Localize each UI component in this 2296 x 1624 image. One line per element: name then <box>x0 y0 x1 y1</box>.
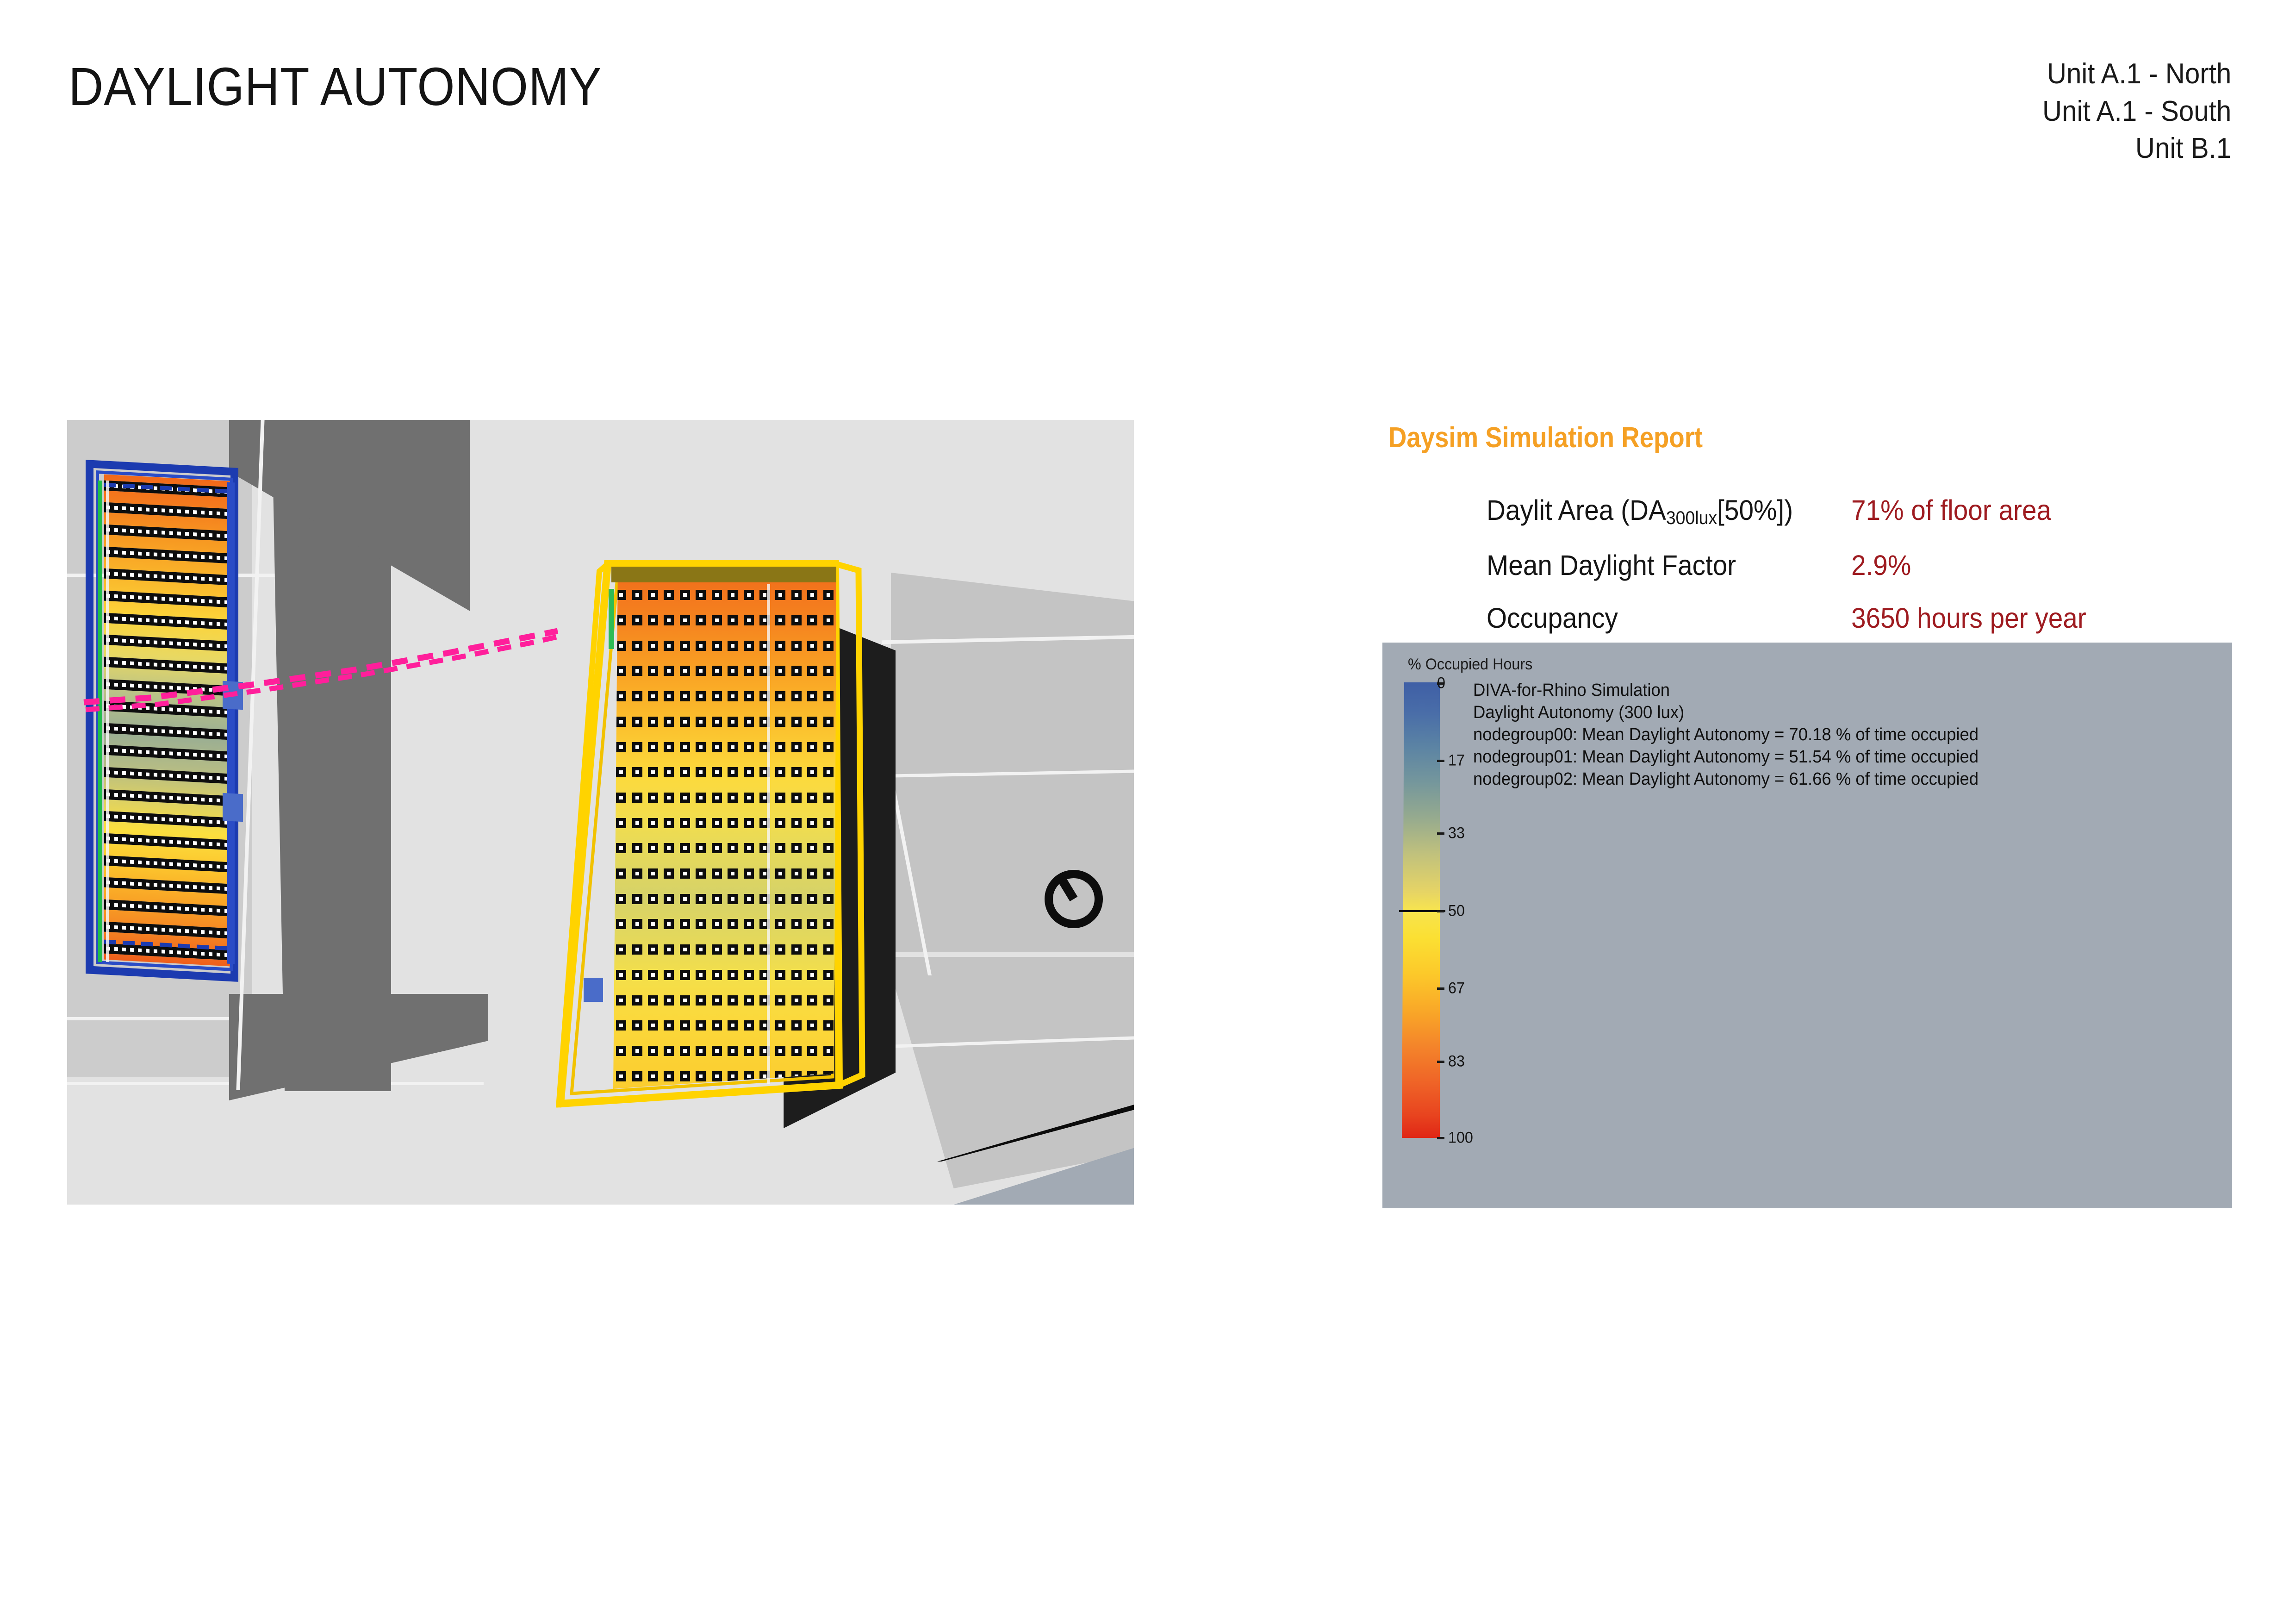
sensor-node-icon <box>744 717 754 727</box>
sensor-node-cell <box>645 861 661 887</box>
sensor-node-icon <box>632 894 642 904</box>
sensor-node-icon <box>712 1020 722 1031</box>
sensor-node-cell <box>709 1038 725 1064</box>
sensor-node-icon <box>823 641 834 651</box>
sensor-node-cell <box>693 962 709 988</box>
sensor-node-cell <box>740 633 756 658</box>
sensor-node-cell <box>804 1038 820 1064</box>
sensor-node-icon <box>648 666 658 676</box>
sensor-node-icon <box>823 995 834 1006</box>
sensor-node-cell <box>613 1013 629 1038</box>
sensor-node-cell <box>789 658 804 684</box>
sensor-node-icon <box>696 818 706 828</box>
sensor-node-cell <box>804 810 820 836</box>
sensor-node-icon <box>807 944 817 955</box>
daylit-area-label-sub: 300lux <box>1666 507 1717 528</box>
sensor-node-icon <box>807 843 817 853</box>
sensor-node-icon <box>712 742 722 752</box>
sensor-node-icon <box>744 843 754 853</box>
sensor-node-icon <box>680 843 690 853</box>
sensor-node-icon <box>744 691 754 701</box>
sensor-node-icon <box>775 843 785 853</box>
sensor-node-icon <box>823 666 834 676</box>
sensor-node-cell <box>629 785 645 811</box>
sensor-node-icon <box>696 868 706 879</box>
unit-right-group[interactable] <box>553 556 923 1135</box>
sensor-node-cell <box>677 912 693 937</box>
sensor-node-icon <box>680 717 690 727</box>
unit-right-grid-cells <box>613 582 836 1089</box>
sensor-node-cell <box>645 836 661 861</box>
sensor-node-cell <box>629 1063 645 1089</box>
sensor-node-icon <box>664 868 674 879</box>
sensor-node-icon <box>648 868 658 879</box>
unit-left-grid-cells <box>104 475 230 967</box>
sensor-node-cell <box>821 684 836 709</box>
colorbar-label-83: 83 <box>1448 1053 1465 1071</box>
sensor-node-icon <box>712 590 722 600</box>
sensor-node-icon <box>791 1046 802 1056</box>
sensor-node-icon <box>664 1071 674 1081</box>
sensor-node-cell <box>629 987 645 1013</box>
sensor-node-cell <box>645 658 661 684</box>
sensor-node-cell <box>740 1013 756 1038</box>
sensor-node-icon <box>807 767 817 777</box>
sensor-node-icon <box>823 767 834 777</box>
sensor-node-icon <box>616 793 626 803</box>
sensor-node-icon <box>775 590 785 600</box>
sensor-node-icon <box>664 843 674 853</box>
sensor-node-icon <box>823 793 834 803</box>
sensor-node-cell <box>677 1013 693 1038</box>
sensor-node-cell <box>661 836 677 861</box>
sensor-node-icon <box>823 717 834 727</box>
sensor-node-cell <box>661 760 677 785</box>
sensor-node-cell <box>740 684 756 709</box>
sensor-node-cell <box>740 912 756 937</box>
sensor-node-icon <box>632 742 642 752</box>
sensor-node-icon <box>680 919 690 929</box>
sensor-node-cell <box>709 912 725 937</box>
sensor-node-icon <box>823 894 834 904</box>
sensor-node-icon <box>632 995 642 1006</box>
sensor-node-icon <box>648 717 658 727</box>
sensor-node-icon <box>616 615 626 625</box>
unit-left-window-panel-a <box>223 681 243 710</box>
sensor-node-icon <box>775 818 785 828</box>
sensor-node-cell <box>740 658 756 684</box>
sensor-node-icon <box>616 868 626 879</box>
sensor-node-icon <box>712 818 722 828</box>
sensor-node-icon <box>791 843 802 853</box>
sensor-node-icon <box>648 894 658 904</box>
sensor-node-icon <box>664 691 674 701</box>
sensor-node-cell <box>613 962 629 988</box>
legend-panel: % Occupied Hours 0 17 33 50 67 83 100 DI… <box>1382 643 2232 1208</box>
sensor-node-icon <box>744 793 754 803</box>
sensor-node-icon <box>664 793 674 803</box>
sensor-node-cell <box>772 734 788 760</box>
sensor-node-cell <box>789 684 804 709</box>
sensor-node-icon <box>728 666 738 676</box>
sensor-node-cell <box>693 582 709 608</box>
page-title: DAYLIGHT AUTONOMY <box>68 56 602 118</box>
sensor-node-icon <box>712 793 722 803</box>
sensor-node-icon <box>680 818 690 828</box>
sensor-node-icon <box>680 742 690 752</box>
colorbar-title: % Occupied Hours <box>1408 656 1532 674</box>
sensor-node-cell <box>740 734 756 760</box>
sensor-node-icon <box>744 944 754 955</box>
sensor-node-icon <box>648 767 658 777</box>
unit-left-mullion-right <box>227 482 235 964</box>
sensor-node-icon <box>823 843 834 853</box>
sensor-node-cell <box>693 987 709 1013</box>
sensor-node-cell <box>725 684 740 709</box>
sensor-node-icon <box>791 995 802 1006</box>
sensor-node-icon <box>712 666 722 676</box>
sensor-node-cell <box>725 861 740 887</box>
sensor-node-icon <box>744 666 754 676</box>
sensor-node-icon <box>712 843 722 853</box>
sensor-node-icon <box>680 1071 690 1081</box>
sensor-node-cell <box>725 962 740 988</box>
sensor-node-icon <box>696 742 706 752</box>
sensor-node-cell <box>772 684 788 709</box>
sensor-node-cell <box>709 684 725 709</box>
sensor-node-cell <box>821 760 836 785</box>
sensor-node-cell <box>629 608 645 633</box>
sensor-node-cell <box>789 836 804 861</box>
sensor-node-icon <box>775 717 785 727</box>
sensor-node-icon <box>791 894 802 904</box>
sensor-node-icon <box>823 1046 834 1056</box>
sensor-node-icon <box>648 691 658 701</box>
sensor-node-icon <box>807 717 817 727</box>
sensor-node-cell <box>725 658 740 684</box>
sensor-node-cell <box>645 1013 661 1038</box>
sensor-node-cell <box>645 1038 661 1064</box>
sensor-node-cell <box>661 937 677 962</box>
sensor-node-cell <box>645 810 661 836</box>
sensor-node-cell <box>677 734 693 760</box>
sensor-node-icon <box>648 995 658 1006</box>
sensor-node-cell <box>661 1013 677 1038</box>
sensor-node-icon <box>664 1020 674 1031</box>
report-value-daylit-area: 71% of floor area <box>1851 494 2051 526</box>
sensor-node-cell <box>645 633 661 658</box>
sensor-node-cell <box>645 912 661 937</box>
sensor-node-icon <box>616 818 626 828</box>
sensor-node-cell <box>757 785 772 811</box>
sensor-node-icon <box>823 818 834 828</box>
sensor-node-icon <box>616 691 626 701</box>
sensor-node-icon <box>664 717 674 727</box>
sensor-node-icon <box>728 970 738 980</box>
sensor-node-icon <box>648 793 658 803</box>
sensor-node-cell <box>757 912 772 937</box>
sensor-node-cell <box>789 810 804 836</box>
sensor-node-cell <box>677 785 693 811</box>
sensor-node-icon <box>664 666 674 676</box>
sensor-node-icon <box>632 793 642 803</box>
sensor-node-cell <box>789 633 804 658</box>
sensor-node-icon <box>632 590 642 600</box>
unit-left-group[interactable] <box>86 464 345 1089</box>
colorbar-label-17: 17 <box>1448 752 1465 770</box>
sensor-node-cell <box>661 582 677 608</box>
sensor-node-cell <box>661 962 677 988</box>
sensor-node-cell <box>629 684 645 709</box>
report-label-occupancy: Occupancy <box>1388 602 1819 634</box>
sensor-node-cell <box>789 861 804 887</box>
sensor-node-cell <box>804 785 820 811</box>
sensor-node-icon <box>680 615 690 625</box>
sensor-node-cell <box>740 937 756 962</box>
sensor-node-cell <box>693 684 709 709</box>
sensor-node-cell <box>693 861 709 887</box>
sensor-node-icon <box>744 970 754 980</box>
sensor-node-cell <box>629 962 645 988</box>
sensor-node-cell <box>804 633 820 658</box>
sensor-node-icon <box>664 818 674 828</box>
sensor-node-icon <box>728 615 738 625</box>
sensor-node-cell <box>709 836 725 861</box>
sensor-node-icon <box>696 1020 706 1031</box>
sensor-node-cell <box>645 1063 661 1089</box>
sensor-node-cell <box>709 734 725 760</box>
unit-right-sensor-grid[interactable] <box>613 582 836 1089</box>
sensor-node-icon <box>680 590 690 600</box>
unit-label-north: Unit A.1 - North <box>2042 56 2231 93</box>
sensor-node-cell <box>772 937 788 962</box>
sensor-node-icon <box>712 919 722 929</box>
sensor-node-icon <box>632 970 642 980</box>
sensor-node-icon <box>632 818 642 828</box>
rhino-3d-viewport[interactable] <box>67 420 1134 1205</box>
sensor-node-icon <box>728 919 738 929</box>
sensor-node-icon <box>680 666 690 676</box>
sensor-node-icon <box>775 742 785 752</box>
colorbar-label-100: 100 <box>1448 1129 1473 1147</box>
sensor-node-icon <box>696 1046 706 1056</box>
sensor-node-cell <box>661 886 677 912</box>
unit-right-top-cap <box>611 567 836 582</box>
sensor-node-icon <box>744 615 754 625</box>
sensor-node-icon <box>680 970 690 980</box>
sensor-node-cell <box>645 709 661 735</box>
sensor-node-cell <box>645 734 661 760</box>
sensor-node-icon <box>632 919 642 929</box>
sensor-node-cell <box>757 582 772 608</box>
sensor-node-icon <box>807 995 817 1006</box>
sensor-node-icon <box>680 995 690 1006</box>
sensor-node-cell <box>804 684 820 709</box>
sensor-node-cell <box>645 684 661 709</box>
sensor-node-cell <box>757 861 772 887</box>
sensor-node-cell <box>661 987 677 1013</box>
sensor-node-cell <box>693 836 709 861</box>
sensor-node-cell <box>804 658 820 684</box>
sensor-node-icon <box>791 818 802 828</box>
sensor-node-icon <box>807 1046 817 1056</box>
sensor-node-cell <box>821 886 836 912</box>
sensor-node-icon <box>791 944 802 955</box>
sensor-node-cell <box>789 582 804 608</box>
sensor-node-cell <box>693 1038 709 1064</box>
sensor-node-icon <box>791 793 802 803</box>
sensor-node-cell <box>772 1013 788 1038</box>
sensor-node-icon <box>632 666 642 676</box>
sensor-node-icon <box>648 818 658 828</box>
sensor-node-icon <box>680 641 690 651</box>
sensor-node-cell <box>629 912 645 937</box>
sensor-node-cell <box>693 709 709 735</box>
sensor-node-cell <box>757 937 772 962</box>
sensor-node-cell <box>821 912 836 937</box>
sensor-node-icon <box>823 615 834 625</box>
sensor-node-cell <box>740 886 756 912</box>
sensor-node-icon <box>632 1071 642 1081</box>
sensor-node-cell <box>772 760 788 785</box>
sensor-node-cell <box>629 861 645 887</box>
colorbar-tick <box>1437 987 1444 990</box>
sensor-node-icon <box>664 767 674 777</box>
sensor-node-cell <box>629 734 645 760</box>
sensor-node-icon <box>696 995 706 1006</box>
sensor-node-icon <box>807 1020 817 1031</box>
sensor-node-icon <box>728 868 738 879</box>
sensor-node-icon <box>632 717 642 727</box>
sensor-node-cell <box>661 734 677 760</box>
sensor-node-icon <box>775 615 785 625</box>
sensor-node-cell <box>804 962 820 988</box>
sensor-node-icon <box>664 615 674 625</box>
sensor-node-cell <box>629 760 645 785</box>
sensor-node-icon <box>728 767 738 777</box>
sensor-node-cell <box>789 709 804 735</box>
sensor-node-icon <box>744 742 754 752</box>
sensor-node-cell <box>821 608 836 633</box>
sensor-node-cell <box>613 861 629 887</box>
sensor-node-icon <box>616 717 626 727</box>
sensor-node-icon <box>823 868 834 879</box>
sensor-node-cell <box>757 709 772 735</box>
sensor-node-icon <box>728 793 738 803</box>
sensor-node-cell <box>772 810 788 836</box>
sensor-node-icon <box>648 970 658 980</box>
sensor-node-icon <box>807 666 817 676</box>
sensor-node-cell <box>693 937 709 962</box>
sensor-node-icon <box>728 1071 738 1081</box>
sensor-node-icon <box>791 691 802 701</box>
sensor-node-icon <box>791 970 802 980</box>
sensor-node-cell <box>613 912 629 937</box>
sensor-node-cell <box>757 608 772 633</box>
sensor-node-icon <box>616 995 626 1006</box>
sensor-node-icon <box>728 894 738 904</box>
sensor-node-icon <box>791 666 802 676</box>
sensor-node-cell <box>821 633 836 658</box>
sensor-node-icon <box>775 691 785 701</box>
sensor-node-icon <box>616 767 626 777</box>
sensor-node-icon <box>712 894 722 904</box>
sensor-node-cell <box>645 785 661 811</box>
sensor-node-cell <box>677 760 693 785</box>
sensor-node-cell <box>772 1038 788 1064</box>
sensor-node-cell <box>677 608 693 633</box>
sensor-node-icon <box>791 868 802 879</box>
sensor-node-cell <box>821 658 836 684</box>
sensor-node-cell <box>677 709 693 735</box>
sensor-node-cell <box>740 861 756 887</box>
colorbar-tick <box>1437 1061 1444 1063</box>
report-heading: Daysim Simulation Report <box>1388 421 2134 454</box>
sheet: DAYLIGHT AUTONOMY Unit A.1 - North Unit … <box>0 0 2296 1624</box>
sensor-node-icon <box>648 1071 658 1081</box>
sensor-node-icon <box>712 1071 722 1081</box>
sensor-node-cell <box>725 582 740 608</box>
sensor-node-icon <box>616 894 626 904</box>
sensor-node-icon <box>712 995 722 1006</box>
sensor-node-icon <box>648 944 658 955</box>
sensor-node-cell <box>645 582 661 608</box>
sensor-node-icon <box>728 818 738 828</box>
sensor-node-cell <box>789 1038 804 1064</box>
sensor-node-cell <box>677 836 693 861</box>
sensor-node-icon <box>712 691 722 701</box>
sensor-node-cell <box>804 987 820 1013</box>
sensor-node-cell <box>725 760 740 785</box>
sensor-node-icon <box>823 691 834 701</box>
sensor-node-cell <box>709 633 725 658</box>
sensor-node-icon <box>616 944 626 955</box>
sensor-node-cell <box>693 608 709 633</box>
report-value-mean-daylight-factor: 2.9% <box>1851 549 1911 581</box>
sensor-node-cell <box>740 582 756 608</box>
sensor-node-cell <box>772 785 788 811</box>
sensor-node-cell <box>693 912 709 937</box>
sensor-node-icon <box>775 868 785 879</box>
sensor-node-cell <box>709 962 725 988</box>
sensor-node-cell <box>709 608 725 633</box>
sensor-node-cell <box>789 987 804 1013</box>
sensor-node-icon <box>632 615 642 625</box>
sim-line-nodegroup00: nodegroup00: Mean Daylight Autonomy = 70… <box>1473 724 1979 746</box>
unit-left-sensor-grid[interactable] <box>104 475 230 967</box>
sensor-node-icon <box>664 641 674 651</box>
sensor-node-icon <box>775 995 785 1006</box>
sensor-node-cell <box>772 709 788 735</box>
unit-left-green-edge <box>98 481 102 962</box>
sensor-node-icon <box>696 919 706 929</box>
sensor-node-cell <box>645 937 661 962</box>
sensor-node-cell <box>772 962 788 988</box>
sensor-node-icon <box>632 1020 642 1031</box>
sensor-node-cell <box>709 810 725 836</box>
daylit-area-label-post: [50%]) <box>1717 494 1793 526</box>
sensor-node-icon <box>648 742 658 752</box>
sensor-node-cell <box>789 734 804 760</box>
sensor-node-cell <box>789 1013 804 1038</box>
sensor-node-icon <box>680 1020 690 1031</box>
sensor-node-cell <box>677 658 693 684</box>
sensor-node-cell <box>772 658 788 684</box>
sensor-node-cell <box>804 734 820 760</box>
sensor-node-icon <box>696 615 706 625</box>
sensor-node-icon <box>696 843 706 853</box>
sensor-node-cell <box>613 886 629 912</box>
